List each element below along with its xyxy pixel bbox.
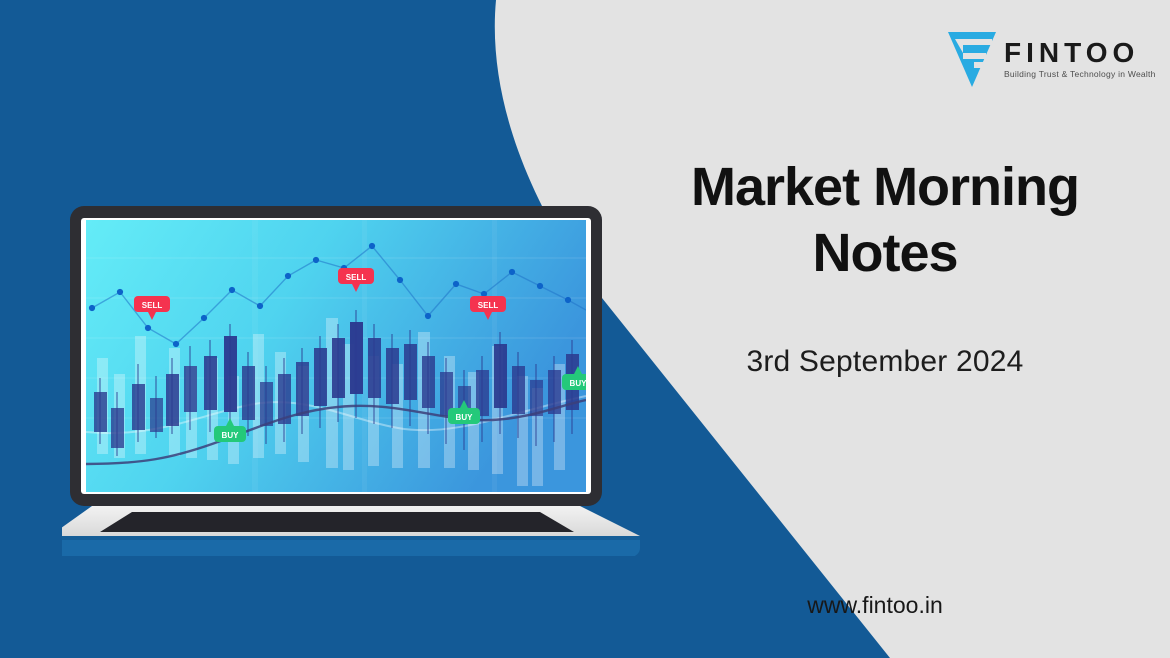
title-line-1: Market Morning <box>691 157 1079 217</box>
publication-date: 3rd September 2024 <box>620 345 1150 379</box>
brand-tagline: Building Trust & Technology in Wealth <box>1004 70 1156 79</box>
svg-text:SELL: SELL <box>346 273 367 282</box>
svg-text:BUY: BUY <box>570 379 588 388</box>
fintoo-triangle-f-icon <box>948 30 996 87</box>
brand-name: FINTOO <box>1004 39 1139 67</box>
svg-text:SELL: SELL <box>142 301 163 310</box>
poster-canvas: SELL SELL SELL BUY <box>0 0 1170 658</box>
laptop-illustration: SELL SELL SELL BUY <box>62 206 652 556</box>
fintoo-logo[interactable]: FINTOO Building Trust & Technology in We… <box>948 30 1156 87</box>
svg-text:BUY: BUY <box>222 431 240 440</box>
title-line-2: Notes <box>620 221 1150 287</box>
svg-text:BUY: BUY <box>456 413 474 422</box>
svg-text:SELL: SELL <box>478 301 499 310</box>
laptop-base <box>62 506 640 556</box>
page-title: Market Morning Notes <box>620 155 1150 287</box>
website-url[interactable]: www.fintoo.in <box>620 592 1130 619</box>
